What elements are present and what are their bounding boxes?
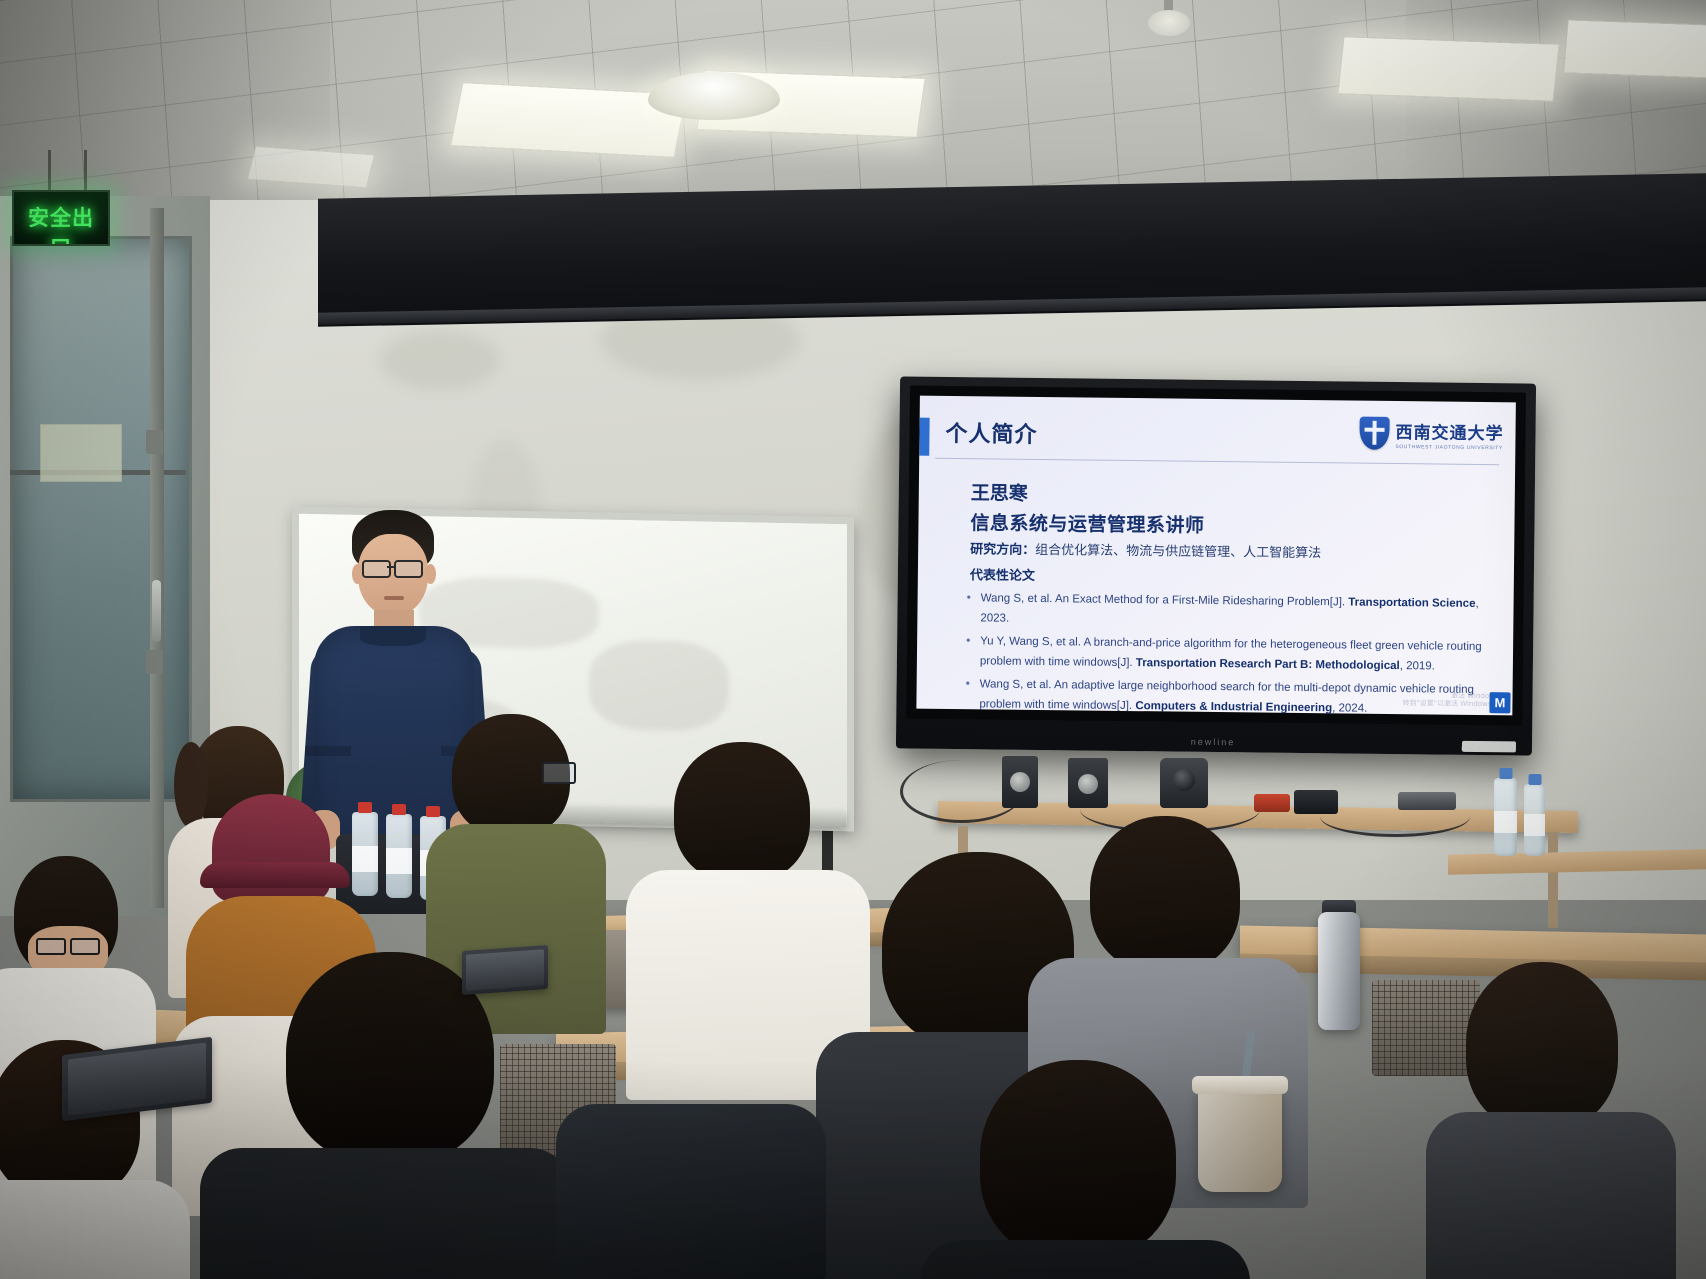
- laptop[interactable]: [462, 945, 548, 995]
- av-device-grey: [1398, 792, 1456, 810]
- display-brand-label: newline: [1168, 736, 1258, 747]
- presenter-mouth: [384, 596, 404, 600]
- laptop-screen[interactable]: [466, 949, 544, 990]
- attendee-torso: [1426, 1112, 1676, 1279]
- speaker-cone-icon: [1078, 774, 1098, 794]
- slide-heading: 个人简介: [945, 416, 1037, 449]
- water-bottle: [1494, 778, 1517, 856]
- research-direction: 研究方向：组合优化算法、物流与供应链管理、人工智能算法: [970, 538, 1321, 561]
- eyeglasses-icon: [542, 762, 576, 784]
- presentation-slide: 个人简介 西南交通大学 SOUTHWEST JIAOTONG UNIVERSIT…: [916, 396, 1516, 716]
- bottle-label: [386, 848, 412, 874]
- attendee-torso: [200, 1148, 572, 1279]
- research-direction-label: 研究方向：: [970, 542, 1035, 558]
- speaker-position: 信息系统与运营管理系讲师: [970, 508, 1204, 538]
- bottle-label: [1494, 811, 1517, 833]
- eyeglasses-icon: [36, 938, 66, 955]
- bottle-cap: [426, 806, 440, 817]
- av-device-red: [1254, 794, 1290, 812]
- bottle-cap: [392, 804, 406, 815]
- attendee-head: [980, 1060, 1176, 1260]
- wall-notice-paper: [40, 424, 122, 482]
- university-name-en: SOUTHWEST JIAOTONG UNIVERSITY: [1395, 444, 1503, 451]
- shield-crest-icon: [1359, 417, 1389, 450]
- bottle-cap: [1528, 774, 1541, 785]
- university-name-cn: 西南交通大学: [1395, 423, 1503, 444]
- cap-brim: [200, 862, 350, 888]
- publication-year: , 2019.: [1400, 660, 1435, 672]
- av-device-black: [1294, 790, 1338, 814]
- water-bottle: [1524, 784, 1545, 856]
- eyeglasses-icon: [394, 560, 423, 578]
- display-label-strip: [1462, 741, 1516, 753]
- meeting-app-badge[interactable]: M: [1489, 692, 1510, 713]
- video-conference-camera: [1160, 758, 1208, 808]
- door-frame: [150, 208, 164, 908]
- publications-heading: 代表性论文: [970, 564, 1035, 584]
- speaker-unit: [1068, 758, 1108, 808]
- backpack: [556, 1104, 826, 1279]
- whiteboard-smudge: [589, 639, 729, 732]
- exit-sign-label: 安全出口: [18, 202, 104, 246]
- presenter-collar: [360, 626, 426, 646]
- exit-sign-rod: [48, 150, 51, 192]
- table-leg: [1548, 832, 1558, 928]
- eyeglasses-icon: [70, 938, 100, 955]
- speaker-unit: [1002, 756, 1038, 808]
- publication-year: , 2024.: [1332, 703, 1367, 715]
- bottle-label: [1524, 814, 1545, 836]
- wall-stain: [380, 330, 500, 390]
- university-logo: 西南交通大学 SOUTHWEST JIAOTONG UNIVERSITY: [1359, 417, 1503, 452]
- attendee-head: [1466, 962, 1618, 1130]
- water-bottle: [386, 814, 412, 898]
- door-hinge: [146, 650, 163, 674]
- water-bottle: [352, 812, 378, 896]
- publication-text: Wang S, et al. An Exact Method for a Fir…: [981, 592, 1349, 608]
- camera-lens-icon: [1173, 769, 1195, 791]
- slide-heading-rule: [935, 458, 1499, 465]
- windows-activation-watermark: 激活 Windows 转到"设置"以激活 Windows。: [1402, 691, 1498, 710]
- door-hinge: [146, 430, 163, 454]
- research-direction-value: 组合优化算法、物流与供应链管理、人工智能算法: [1035, 543, 1321, 561]
- exit-sign: 安全出口: [12, 190, 110, 246]
- exit-sign-rod: [84, 150, 87, 192]
- chair-back[interactable]: [1372, 980, 1480, 1076]
- attendee-torso: [0, 1180, 190, 1279]
- smoke-detector-icon: [1148, 10, 1190, 36]
- speaker-cone-icon: [1010, 772, 1030, 792]
- bottle-cap: [358, 802, 372, 813]
- attendee-ponytail: [174, 742, 208, 828]
- seminar-room-photo: 安全出口 个人简介 西南交通大学 SOUTHWEST JIAOTONG UNIV…: [0, 0, 1706, 1279]
- attendee-torso: [920, 1240, 1250, 1279]
- speaker-name: 王思寒: [971, 478, 1028, 506]
- ceiling-light-panel: [1563, 19, 1706, 78]
- ceiling-light-panel: [1337, 36, 1559, 102]
- slide-accent-bar: [919, 418, 929, 456]
- watermark-line-2: 转到"设置"以激活 Windows。: [1402, 699, 1498, 709]
- publication-journal: Transportation Research Part B: Methodol…: [1136, 658, 1400, 673]
- bottle-cap: [1499, 768, 1512, 779]
- publication-item: Yu Y, Wang S, et al. A branch-and-price …: [963, 631, 1491, 678]
- attendee-head: [674, 742, 810, 882]
- dome-ceiling-lamp: [648, 72, 780, 120]
- eyeglasses-icon: [362, 560, 391, 578]
- eyeglasses-bridge: [387, 566, 394, 568]
- interactive-display[interactable]: 个人简介 西南交通大学 SOUTHWEST JIAOTONG UNIVERSIT…: [896, 376, 1536, 755]
- door-handle[interactable]: [152, 580, 161, 642]
- laptop-screen[interactable]: [68, 1043, 206, 1116]
- bottle-label: [352, 846, 378, 872]
- iced-drink-cup: [1198, 1088, 1282, 1192]
- cup-lid: [1192, 1076, 1288, 1094]
- insulated-flask: [1318, 912, 1360, 1030]
- door-glass-panel: [10, 236, 192, 802]
- publication-item: Wang S, et al. An Exact Method for a Fir…: [963, 588, 1491, 635]
- presenter-sleeve: [305, 746, 351, 756]
- attendee-head: [1090, 816, 1240, 972]
- publication-journal: Transportation Science: [1348, 597, 1475, 610]
- presenter-ear: [425, 564, 436, 584]
